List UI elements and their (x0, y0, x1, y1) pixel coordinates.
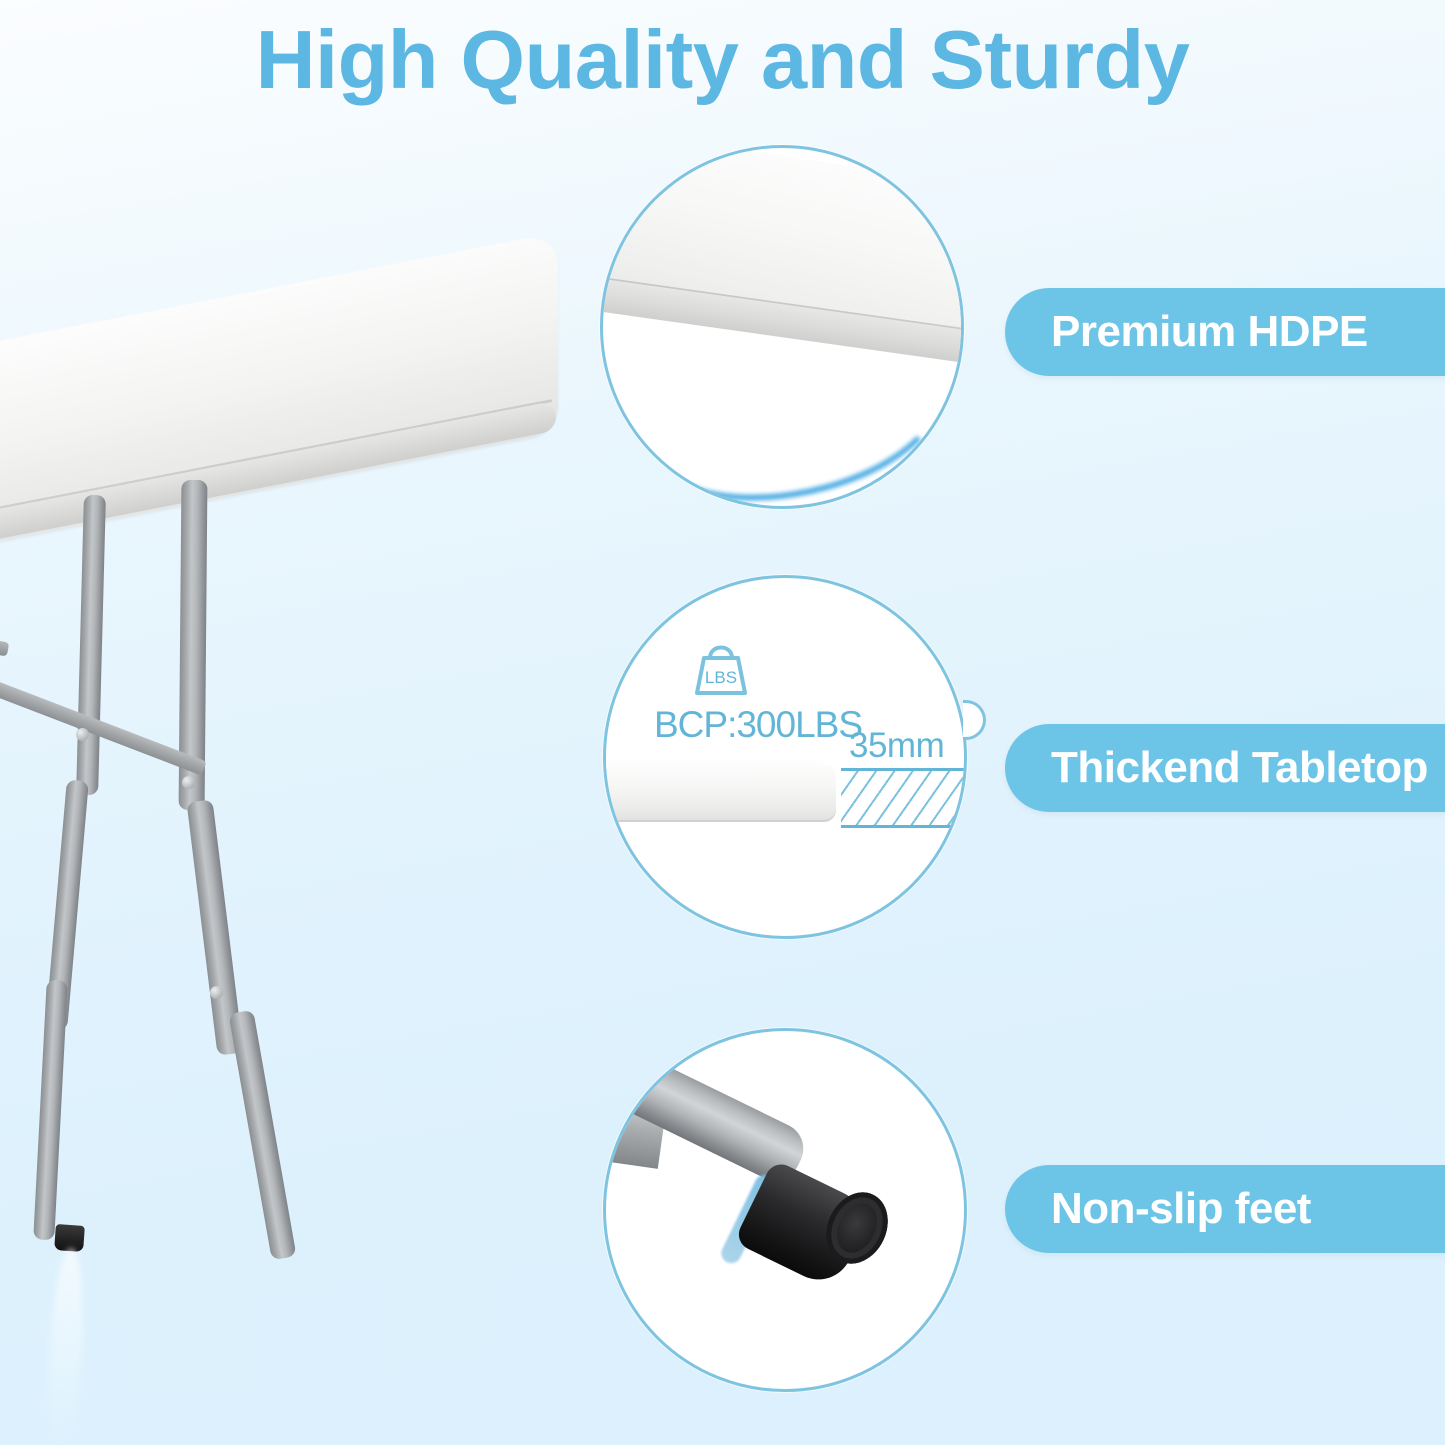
floor-reflection (45, 1247, 87, 1445)
feature-pill-nonslip-feet[interactable]: Non-slip feet (1005, 1165, 1445, 1253)
table-leg-splay-left (33, 980, 68, 1241)
product-photo-folding-table (0, 280, 580, 1340)
circle-edge-sliver (963, 700, 986, 740)
svg-text:LBS: LBS (705, 668, 737, 687)
thickness-slab-icon (603, 764, 836, 822)
support-brace-main (0, 589, 207, 775)
feature-pill-thickness[interactable]: Thickend Tabletop (1005, 724, 1445, 812)
feature-pill-label: Premium HDPE (1051, 307, 1368, 357)
feature-pill-hdpe[interactable]: Premium HDPE (1005, 288, 1445, 376)
support-brace-upper (0, 598, 9, 657)
brace-rivet-icon (182, 776, 195, 789)
infographic-canvas: High Quality and Sturdy (0, 0, 1445, 1445)
feature-pill-label: Thickend Tabletop (1051, 743, 1428, 793)
feature-circle-hdpe (600, 145, 964, 509)
feature-pill-label: Non-slip feet (1051, 1184, 1311, 1234)
thickness-measure-label: 35mm (849, 726, 944, 766)
feature-circle-thickness: LBS BCP:300LBS 35mm (603, 575, 967, 939)
brace-rivet-icon (210, 986, 223, 999)
table-leg-splay-right (228, 1010, 296, 1261)
table-leg-rear (76, 495, 106, 795)
brace-rivet-icon (76, 728, 89, 741)
hatched-thickness-icon (841, 768, 967, 828)
page-title: High Quality and Sturdy (0, 16, 1445, 103)
weight-bag-icon: LBS (688, 636, 754, 698)
feature-circle-nonslip-feet (603, 1028, 967, 1392)
